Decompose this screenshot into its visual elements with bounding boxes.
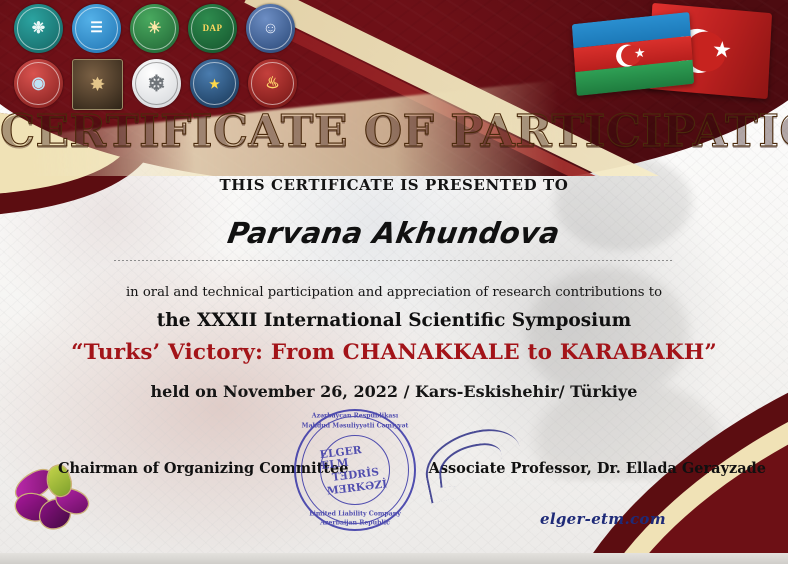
held-on-line: held on November 26, 2022 / Kars-Eskishe… bbox=[0, 382, 788, 401]
seal-inner-bottom: Limited Liability Company bbox=[309, 511, 401, 518]
handwritten-signature bbox=[419, 422, 528, 503]
seal-core-text: ELGER ELM TƎDRİS MƎRKƏZİ bbox=[318, 433, 392, 507]
seal-outer-bottom: Azerbaijan Republic bbox=[320, 520, 390, 527]
event-line: the XXXII International Scientific Sympo… bbox=[0, 310, 788, 331]
symposium-title: “Turks’ Victory: From CHANAKKALE to KARA… bbox=[0, 340, 788, 365]
certificate-page: ❉ ☰ ☀ MINISTRY OF EDUCATION OF THE REPUB… bbox=[0, 0, 788, 564]
presented-to-label: THIS CERTIFICATE IS PRESENTED TO bbox=[0, 176, 788, 194]
official-seal: Azərbaycan Respublikası Məhdud Məsuliyyə… bbox=[294, 409, 416, 531]
website-link[interactable]: elger-etm.com bbox=[540, 510, 666, 528]
recipient-name-wrap: Parvana Akhundova bbox=[114, 216, 674, 250]
bottom-edge-strip bbox=[0, 553, 788, 564]
recipient-name: Parvana Akhundova bbox=[225, 216, 562, 250]
seal-inner-top: Məhdud Məsuliyyətli Cəmiyyət bbox=[302, 423, 409, 430]
seal-outer-top: Azərbaycan Respublikası bbox=[312, 413, 398, 420]
recipient-name-rule bbox=[114, 260, 674, 261]
page-title: CERTIFICATE OF PARTICIPATION bbox=[0, 106, 788, 157]
participation-line: in oral and technical participation and … bbox=[0, 285, 788, 300]
